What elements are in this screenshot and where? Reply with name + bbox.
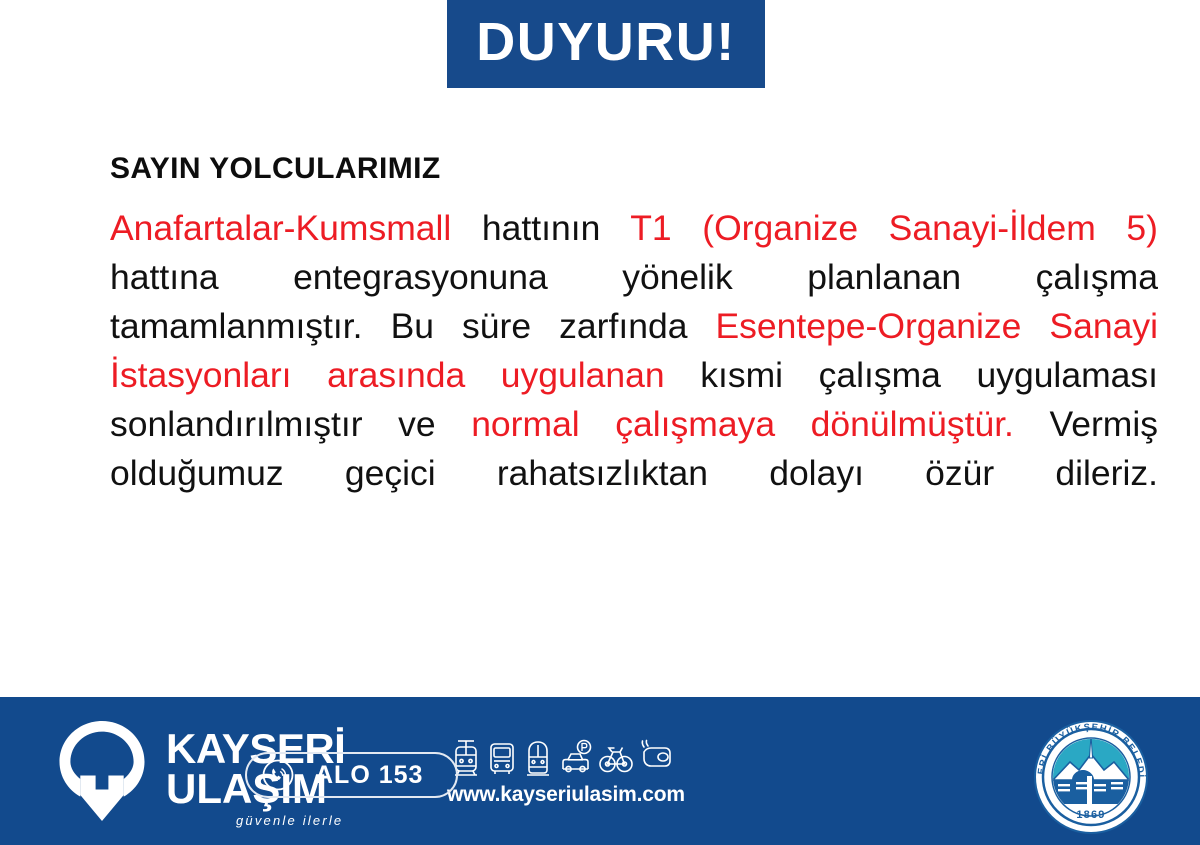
contactless-card-icon xyxy=(639,739,673,777)
announcement-banner: DUYURU! xyxy=(447,0,765,88)
salutation-heading: SAYIN YOLCULARIMIZ xyxy=(110,152,1158,186)
phone-call-icon xyxy=(261,758,295,792)
header-banner-row: DUYURU! xyxy=(0,0,1200,90)
announcement-segment-1: hattının xyxy=(482,208,630,248)
brand-slogan: güvenle ilerle xyxy=(166,813,343,828)
announcement-body: Anafartalar-Kumsmall hattının T1 (Organi… xyxy=(110,204,1158,547)
transport-modes-and-website[interactable]: www.kayseriulasim.com xyxy=(447,735,677,807)
location-pin-chevron-icon xyxy=(48,719,156,823)
hotline-button[interactable]: ALO 153 xyxy=(245,752,458,798)
banner-title: DUYURU! xyxy=(476,15,736,73)
car-parking-icon xyxy=(559,739,593,777)
bicycle-icon xyxy=(599,739,633,777)
announcement-segment-0: Anafartalar-Kumsmall xyxy=(110,208,482,248)
bus-icon xyxy=(487,739,517,777)
svg-text:1869: 1869 xyxy=(1076,809,1105,821)
announcement-segment-2: T1 (Organize Sanayi-İldem 5) xyxy=(630,208,1158,248)
announcement-content: SAYIN YOLCULARIMIZ Anafartalar-Kumsmall … xyxy=(110,152,1158,547)
kayseri-buyuksehir-belediyesi-emblem: KAYSERİ BÜYÜKŞEHİR BELEDİYESİ 1869 xyxy=(1032,718,1150,836)
website-link[interactable]: www.kayseriulasim.com xyxy=(447,783,677,807)
announcement-segment-6: normal çalışmaya dönülmüştür. xyxy=(471,404,1049,444)
metro-icon xyxy=(523,739,553,777)
hotline-label: ALO 153 xyxy=(315,761,423,790)
footer-bar: KAYSERİ ULAŞIM güvenle ilerle xyxy=(0,697,1200,845)
transport-mode-icons xyxy=(447,735,677,777)
